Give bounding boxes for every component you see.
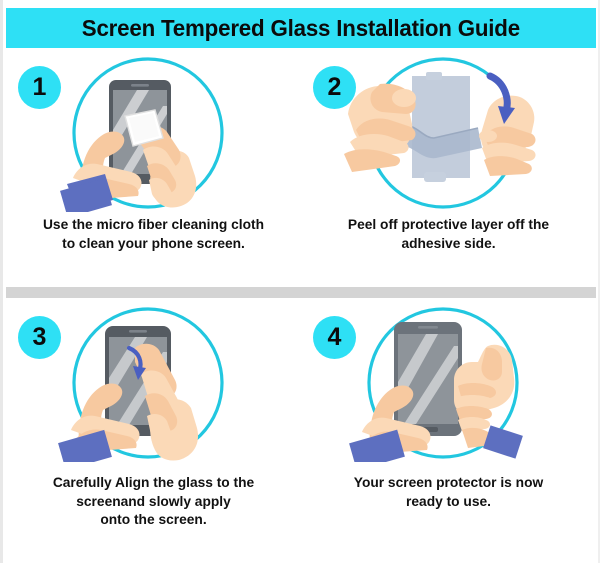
- step-panel-1: 1: [6, 48, 301, 287]
- header-bar: Screen Tempered Glass Installation Guide: [6, 8, 596, 48]
- caption-line: Peel off protective layer off the: [313, 216, 584, 235]
- caption-line: Carefully Align the glass to the: [18, 474, 289, 493]
- step-caption-4: Your screen protector is now ready to us…: [313, 474, 584, 511]
- step-panel-4: 4: [301, 298, 596, 563]
- step-panel-2: 2: [301, 48, 596, 287]
- step-panel-3: 3: [6, 298, 301, 563]
- installation-guide-page: Screen Tempered Glass Installation Guide…: [0, 0, 600, 563]
- step-caption-3: Carefully Align the glass to the screena…: [18, 474, 289, 530]
- step-caption-2: Peel off protective layer off the adhesi…: [313, 216, 584, 253]
- caption-line: adhesive side.: [313, 235, 584, 254]
- step-caption-1: Use the micro fiber cleaning cloth to cl…: [18, 216, 289, 253]
- peel-film-illustration: [338, 54, 548, 212]
- step-illustration-1: [43, 54, 253, 212]
- cleaning-cloth-illustration: [43, 54, 253, 212]
- caption-line: to clean your phone screen.: [18, 235, 289, 254]
- page-title: Screen Tempered Glass Installation Guide: [82, 15, 520, 42]
- horizontal-divider: [6, 287, 596, 298]
- caption-line: onto the screen.: [18, 511, 289, 530]
- align-glass-illustration: [43, 304, 253, 462]
- caption-line: ready to use.: [313, 493, 584, 512]
- steps-grid: 1: [6, 48, 596, 563]
- step-illustration-4: [338, 304, 548, 462]
- step-illustration-3: [43, 304, 253, 462]
- step-illustration-2: [338, 54, 548, 212]
- caption-line: Use the micro fiber cleaning cloth: [18, 216, 289, 235]
- caption-line: Your screen protector is now: [313, 474, 584, 493]
- thumbs-up-illustration: [338, 304, 548, 462]
- caption-line: screenand slowly apply: [18, 493, 289, 512]
